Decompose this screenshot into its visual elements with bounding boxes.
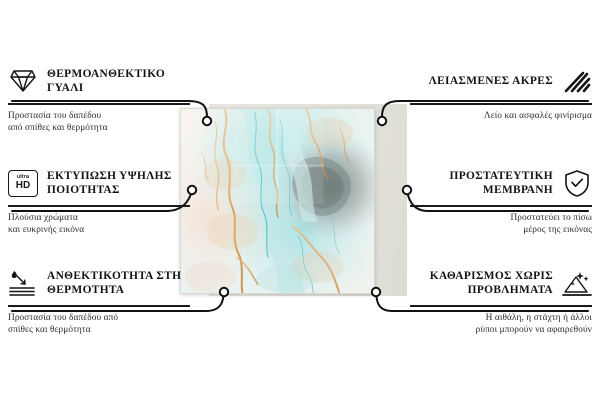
feature-heat-resistance: ΑΝΘΕΚΤΙΚΟΤΗΤΑ ΣΤΗ ΘΕΡΜΟΤΗΤΑ Προστασία το… — [8, 266, 190, 336]
feature-header: ultra HD ΕΚΤΥΠΩΣΗ ΥΨΗΛΗΣ ΠΟΙΟΤΗΤΑΣ — [8, 166, 190, 200]
polished-edges-icon — [562, 66, 592, 96]
feature-description: Η αιθάλη, η στάχτη ή άλλοι ρύποι μπορούν… — [410, 312, 592, 336]
feature-header: ΑΝΘΕΚΤΙΚΟΤΗΤΑ ΣΤΗ ΘΕΡΜΟΤΗΤΑ — [8, 266, 190, 300]
product-glass-panel — [180, 108, 375, 294]
ultra-hd-icon: ultra HD — [8, 168, 38, 198]
flame-heat-resistance-icon — [8, 268, 38, 298]
feature-description-line1: Η αιθάλη, η στάχτη ή άλλοι — [486, 313, 592, 323]
feature-description-line2: και ευκρινής εικόνα — [8, 225, 84, 235]
feature-header: ΘΕΡΜΟΑΝΘΕΚΤΙΚΟ ΓΥΑΛΙ — [8, 64, 190, 98]
feature-title: ΚΑΘΑΡΙΣΜΟΣ ΧΩΡΙΣ ΠΡΟΒΛΗΜΑΤΑ — [410, 269, 553, 297]
feature-description-line1: Πλούσια χρώματα — [8, 213, 78, 223]
feature-title: ΛΕΙΑΣΜΕΝΕΣ ΑΚΡΕΣ — [410, 74, 553, 88]
marble-artwork — [181, 109, 374, 293]
feature-underline — [410, 305, 592, 307]
ultra-hd-big-label: HD — [16, 181, 30, 191]
feature-description: Λείο και ασφαλές φινίρισμα — [410, 110, 592, 122]
feature-description: Προστατεύει το πίσω μέρος της εικόνας — [410, 212, 592, 236]
feature-description: Πλούσια χρώματα και ευκρινής εικόνα — [8, 212, 190, 236]
ultra-hd-badge: ultra HD — [8, 170, 38, 197]
feature-thermoresistant-glass: ΘΕΡΜΟΑΝΘΕΚΤΙΚΟ ΓΥΑΛΙ Προστασία του δαπέδ… — [8, 64, 190, 134]
feature-underline — [8, 103, 190, 105]
feature-underline — [410, 205, 592, 207]
feature-underline — [410, 103, 592, 105]
feature-description-line2: από σπίθες και θερμότητα — [8, 123, 108, 133]
feature-description-line1: Προστασία του δαπέδου — [8, 111, 101, 121]
feature-title: ΘΕΡΜΟΑΝΘΕΚΤΙΚΟ ΓΥΑΛΙ — [47, 67, 190, 95]
feature-description-line2: μέρος της εικόνας — [523, 225, 592, 235]
feature-description: Προστασία του δαπέδου από σπίθες και θερ… — [8, 110, 190, 134]
feature-title: ΠΡΟΣΤΑΤΕΥΤΙΚΗ ΜΕΜΒΡΑΝΗ — [410, 169, 553, 197]
feature-underline — [8, 305, 190, 307]
infographic-root: ΘΕΡΜΟΑΝΘΕΚΤΙΚΟ ΓΥΑΛΙ Προστασία του δαπέδ… — [0, 0, 600, 400]
feature-high-quality-print: ultra HD ΕΚΤΥΠΩΣΗ ΥΨΗΛΗΣ ΠΟΙΟΤΗΤΑΣ Πλούσ… — [8, 166, 190, 236]
feature-title: ΑΝΘΕΚΤΙΚΟΤΗΤΑ ΣΤΗ ΘΕΡΜΟΤΗΤΑ — [47, 269, 190, 297]
feature-description: Προστασία του δαπέδου από σπίθες και θερ… — [8, 312, 190, 336]
diamond-icon — [8, 66, 38, 96]
feature-title: ΕΚΤΥΠΩΣΗ ΥΨΗΛΗΣ ΠΟΙΟΤΗΤΑΣ — [47, 169, 190, 197]
feature-header: ΠΡΟΣΤΑΤΕΥΤΙΚΗ ΜΕΜΒΡΑΝΗ — [410, 166, 592, 200]
feature-underline — [8, 205, 190, 207]
product-image-stage — [180, 104, 407, 296]
feature-polished-edges: ΛΕΙΑΣΜΕΝΕΣ ΑΚΡΕΣ Λείο και ασφαλές φινίρι… — [410, 64, 592, 122]
feature-description-line1: Προστασία του δαπέδου από — [8, 313, 118, 323]
feature-header: ΛΕΙΑΣΜΕΝΕΣ ΑΚΡΕΣ — [410, 64, 592, 98]
feature-description-line2: ρύποι μπορούν να αφαιρεθούν — [476, 325, 592, 335]
feature-protective-membrane: ΠΡΟΣΤΑΤΕΥΤΙΚΗ ΜΕΜΒΡΑΝΗ Προστατεύει το πί… — [410, 166, 592, 236]
feature-header: ΚΑΘΑΡΙΣΜΟΣ ΧΩΡΙΣ ΠΡΟΒΛΗΜΑΤΑ — [410, 266, 592, 300]
shield-check-icon — [562, 168, 592, 198]
sparkle-clean-icon — [562, 268, 592, 298]
feature-description-line2: σπίθες και θερμότητα — [8, 325, 91, 335]
feature-description-line1: Λείο και ασφαλές φινίρισμα — [484, 111, 592, 121]
feature-easy-cleaning: ΚΑΘΑΡΙΣΜΟΣ ΧΩΡΙΣ ΠΡΟΒΛΗΜΑΤΑ Η αιθάλη, η … — [410, 266, 592, 336]
feature-description-line1: Προστατεύει το πίσω — [510, 213, 592, 223]
